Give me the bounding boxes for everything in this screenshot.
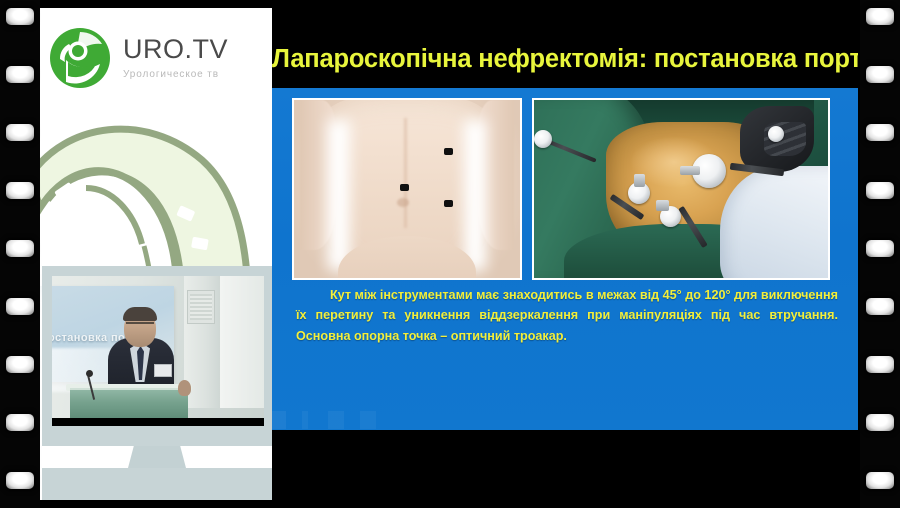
film-sprocket-hole <box>6 414 34 431</box>
abdomen-port-placement-image <box>292 98 522 280</box>
presentation-slide[interactable]: Лапароскопічна нефректомія: постановка п… <box>272 13 858 495</box>
film-sprocket-hole <box>866 8 894 25</box>
film-sprocket-hole <box>6 472 34 489</box>
microphone-icon <box>86 370 93 377</box>
slide-body-text: Кут між інструментами має знаходитись в … <box>296 285 838 346</box>
brand-logo-text: URO.TV Урологическое тв <box>123 36 228 80</box>
video-player-screen: URO.TV Урологическое тв остановка портів <box>0 0 900 508</box>
port-mark-lower <box>444 200 453 207</box>
monitor-graphic: остановка портів <box>42 266 272 500</box>
port-mark-middle <box>400 184 409 191</box>
anatomy-navel <box>397 198 409 207</box>
slide-title: Лапароскопічна нефректомія: постановка п… <box>272 45 858 74</box>
film-sprocket-hole <box>6 124 34 141</box>
film-sprocket-hole <box>866 66 894 83</box>
film-sprocket-hole <box>866 414 894 431</box>
film-sprocket-hole <box>6 8 34 25</box>
trocar-right-cap <box>680 166 700 175</box>
video-letterbox-bar <box>52 418 264 426</box>
brand-logo-row[interactable]: URO.TV Урологическое тв <box>48 26 228 90</box>
trocar-left-cap <box>634 174 645 187</box>
laparoscopic-trocars-image <box>532 98 830 280</box>
anatomy-midline <box>404 118 407 228</box>
podium <box>70 388 188 420</box>
trocar-center-cap <box>656 200 669 211</box>
wall-panel-far <box>220 276 264 408</box>
port-mark-upper <box>444 148 453 155</box>
cable-right-connector <box>768 126 784 142</box>
slide-image-row <box>292 98 838 276</box>
speaker-hand <box>178 380 191 396</box>
film-sprocket-hole <box>866 298 894 315</box>
cable-left-connector <box>534 130 552 148</box>
film-sprocket-hole <box>6 240 34 257</box>
speaker-hair <box>123 307 157 321</box>
film-sprocket-hole <box>6 66 34 83</box>
uro-tv-logo-icon <box>48 26 112 90</box>
film-sprocket-hole <box>866 124 894 141</box>
monitor-stand-base <box>42 468 272 500</box>
film-sprocket-hole <box>866 240 894 257</box>
film-sprocket-hole <box>866 472 894 489</box>
monitor-stand-neck <box>128 446 186 468</box>
brand-title: URO.TV <box>123 36 228 63</box>
anatomy-left-gap-highlight <box>328 120 350 270</box>
speaker-video-thumbnail[interactable]: остановка портів <box>52 276 264 426</box>
film-sprocket-hole <box>6 182 34 199</box>
film-sprocket-hole <box>866 356 894 373</box>
brand-subtitle: Урологическое тв <box>123 70 228 80</box>
anatomy-right-gap-highlight <box>464 120 486 270</box>
speaker-name-badge <box>154 364 172 377</box>
speaker-glasses-icon <box>126 322 154 329</box>
film-sprocket-hole <box>6 356 34 373</box>
film-sprocket-hole <box>866 182 894 199</box>
film-sprocket-hole <box>6 298 34 315</box>
filmstrip-right <box>860 0 900 508</box>
filmstrip-left <box>0 0 40 508</box>
left-branding-panel: URO.TV Урологическое тв остановка портів <box>40 8 272 500</box>
wall-vent-icon <box>187 290 215 324</box>
